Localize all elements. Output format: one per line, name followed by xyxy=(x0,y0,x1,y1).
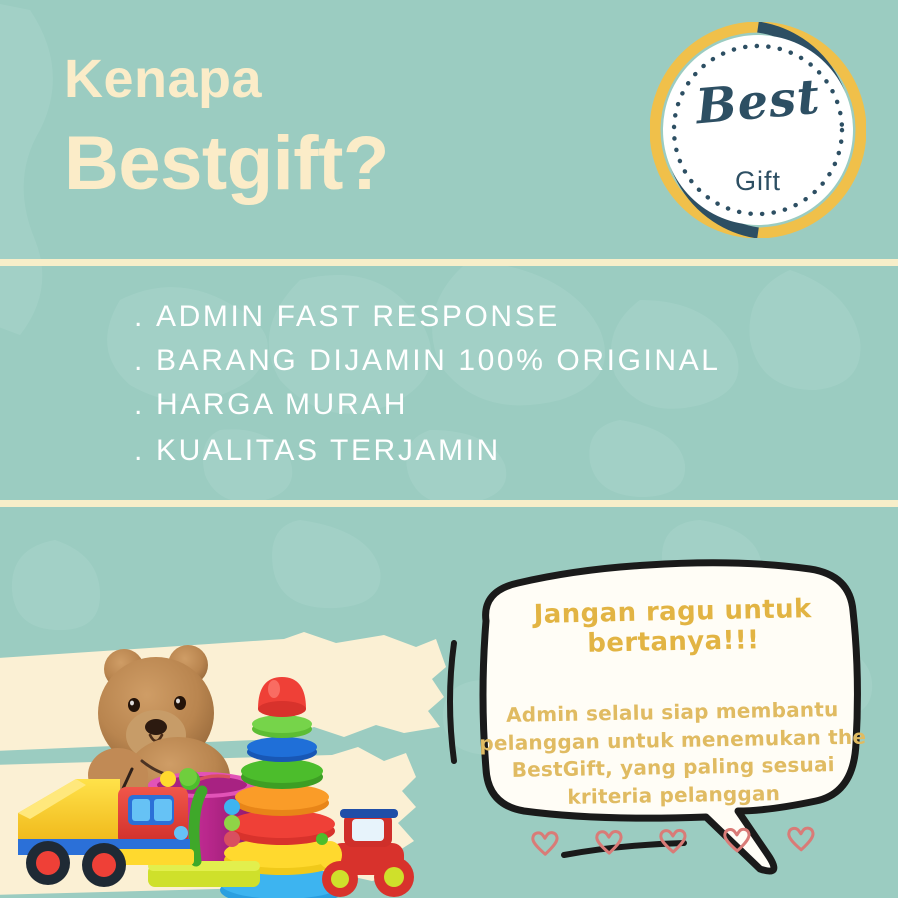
bullet-dot: . xyxy=(134,434,156,468)
feature-label: KUALITAS TERJAMIN xyxy=(156,434,501,467)
feature-label: HARGA MURAH xyxy=(156,388,408,421)
bullet-dot: . xyxy=(134,300,156,334)
bubble-body-text: Admin selalu siap membantu pelanggan unt… xyxy=(477,696,869,813)
feature-item: .BARANG DIJAMIN 100% ORIGINAL xyxy=(134,344,721,378)
features-section: .ADMIN FAST RESPONSE .BARANG DIJAMIN 100… xyxy=(0,266,898,500)
heart-outline-icon xyxy=(594,828,624,857)
heart-outline-icon xyxy=(722,826,752,855)
toys-illustration xyxy=(0,617,430,898)
feature-item: .ADMIN FAST RESPONSE xyxy=(134,300,560,334)
promo-poster: Kenapa Bestgift? Best Gift .ADMIN FAST R… xyxy=(0,0,898,898)
speech-bubble: Jangan ragu untuk bertanya!!! Admin sela… xyxy=(438,525,898,898)
heart-outline-icon xyxy=(786,825,816,854)
speech-bubble-content: Jangan ragu untuk bertanya!!! Admin sela… xyxy=(478,597,868,855)
feature-item: .KUALITAS TERJAMIN xyxy=(134,434,501,468)
bullet-dot: . xyxy=(134,344,156,378)
divider-bottom xyxy=(0,500,898,507)
hearts-row xyxy=(478,824,868,859)
lower-section: Jangan ragu untuk bertanya!!! Admin sela… xyxy=(0,507,898,898)
header-section: Kenapa Bestgift? Best Gift xyxy=(0,0,898,259)
heart-outline-icon xyxy=(530,829,560,858)
best-gift-badge: Best Gift xyxy=(650,22,866,238)
heart-outline-icon xyxy=(658,827,688,856)
page-title-line1: Kenapa xyxy=(64,52,262,106)
badge-sub-word: Gift xyxy=(650,166,866,197)
bubble-headline: Jangan ragu untuk bertanya!!! xyxy=(477,593,868,661)
feature-item: .HARGA MURAH xyxy=(134,388,408,422)
divider-top xyxy=(0,259,898,266)
page-title-line2: Bestgift? xyxy=(64,126,389,202)
bullet-dot: . xyxy=(134,388,156,422)
feature-label: ADMIN FAST RESPONSE xyxy=(156,300,560,333)
feature-label: BARANG DIJAMIN 100% ORIGINAL xyxy=(156,344,721,377)
